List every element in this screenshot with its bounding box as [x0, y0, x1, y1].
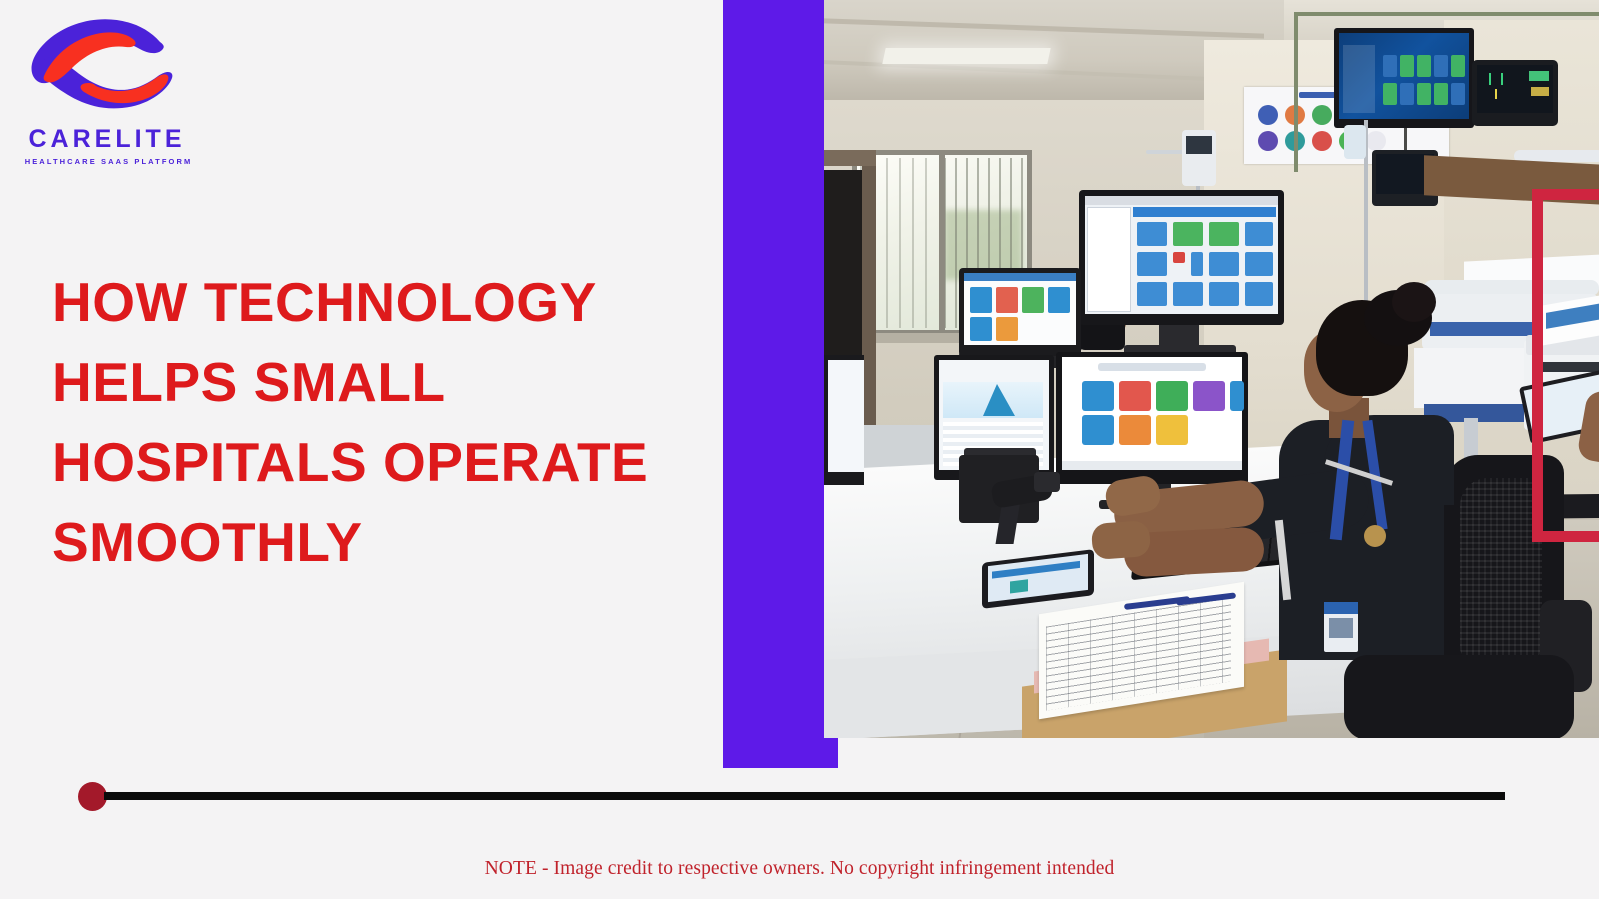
tv-bed-cell	[1451, 83, 1465, 105]
bed-status-card	[1209, 222, 1239, 246]
tv-bed-cell	[1434, 83, 1448, 105]
touchscreen-kiosk	[959, 268, 1081, 356]
tv-bed-cell	[1417, 83, 1431, 105]
seated-nurse-hair-bun	[1392, 282, 1436, 322]
brand-name: CARELITE	[22, 125, 192, 154]
spo2-trace	[1481, 89, 1527, 99]
dashboard-header-bar	[1133, 207, 1276, 217]
vitals-reading	[1531, 87, 1549, 96]
wall-conduit-vertical	[1294, 12, 1298, 172]
bed-status-card	[1137, 282, 1167, 306]
tv-bed-cell	[1400, 55, 1414, 77]
footer-note: NOTE - Image credit to respective owners…	[0, 858, 1599, 880]
bed-status-card	[1173, 222, 1203, 246]
kiosk-header-bar	[964, 273, 1076, 281]
patient-vitals-monitor	[1472, 60, 1558, 126]
vitals-reading	[1529, 71, 1549, 81]
hmis-module-tile	[1193, 381, 1225, 411]
bed-status-card	[1245, 282, 1273, 306]
hospital-workstation-photo	[824, 0, 1599, 738]
barcode-scanner-head	[1034, 472, 1060, 492]
poster-icon	[1258, 131, 1278, 151]
ceiling-light	[882, 48, 1050, 64]
door-header	[824, 150, 876, 166]
ward-dashboard-monitor	[1079, 190, 1284, 325]
id-badge-header	[1324, 602, 1358, 614]
iv-bag	[1344, 125, 1366, 159]
tv-dashboard-sidebar	[1343, 45, 1375, 113]
vitals-screen	[1477, 65, 1553, 113]
tv-bed-cell	[1434, 55, 1448, 77]
hmis-module-tile	[1082, 415, 1114, 445]
hmis-module-tile	[1156, 381, 1188, 411]
headline-line-4: SMOOTHLY	[52, 502, 692, 582]
red-highlight-box	[1532, 189, 1599, 542]
ecg-trace	[1481, 73, 1527, 85]
headline-line-3: HOSPITALS OPERATE	[52, 422, 692, 502]
bed-status-card	[1209, 282, 1239, 306]
carelite-c-logo-icon	[22, 14, 182, 129]
bed-status-card	[1137, 222, 1167, 246]
poster-icon	[1312, 131, 1332, 151]
bed-status-card	[1245, 252, 1273, 276]
hmis-module-tile	[1082, 381, 1114, 411]
tv-bed-cell	[1400, 83, 1414, 105]
windows-taskbar	[1062, 461, 1242, 470]
divider-line	[104, 792, 1505, 800]
seated-nurse-hand-on-keyboard	[1091, 520, 1151, 560]
kiosk-module-tile	[970, 287, 992, 313]
hmis-monitor	[1056, 352, 1248, 484]
dashboard-sidebar	[1087, 207, 1131, 312]
window-mullion	[939, 155, 945, 330]
kiosk-module-tile	[996, 287, 1018, 313]
hmis-module-tile	[1230, 381, 1244, 411]
kiosk-module-tile	[996, 317, 1018, 341]
poster-icon	[1312, 105, 1332, 125]
divider-dot	[78, 782, 107, 811]
headline-line-2: HELPS SMALL	[52, 342, 692, 422]
ward-dashboard-screen	[1085, 196, 1278, 314]
office-chair-mesh	[1460, 478, 1542, 658]
kiosk-screen	[964, 273, 1076, 345]
poster-icon	[1366, 131, 1386, 151]
tv-bed-cell	[1417, 55, 1431, 77]
purple-vertical-bar	[723, 0, 838, 768]
tv-bed-cell	[1451, 55, 1465, 77]
bed-status-card	[1173, 282, 1203, 306]
wall-mounted-tv	[1334, 28, 1474, 128]
id-badge-photo	[1329, 618, 1353, 638]
office-chair-seat	[1344, 655, 1574, 738]
tv-bed-cell	[1383, 83, 1397, 105]
bed-status-card	[1137, 252, 1167, 276]
bed-alert-card	[1173, 252, 1185, 263]
bed-status-card	[1245, 222, 1273, 246]
kiosk-module-tile	[970, 317, 992, 341]
tablet-app-tile	[1010, 579, 1028, 593]
tablet-header-band	[992, 561, 1080, 579]
headline-line-1: HOW TECHNOLOGY	[52, 262, 692, 342]
poster-icon	[1258, 105, 1278, 125]
bed-status-card	[1191, 252, 1203, 276]
browser-titlebar	[1085, 196, 1278, 205]
tv-bed-cell	[1383, 55, 1397, 77]
brand-logo[interactable]: CARELITE HEALTHCARE SAAS PLATFORM	[22, 14, 202, 164]
analytics-peak	[983, 384, 1015, 416]
lanyard-pendant	[1364, 525, 1386, 547]
bed-status-card	[1209, 252, 1239, 276]
tv-dashboard-screen	[1339, 33, 1469, 119]
page-title: HOW TECHNOLOGY HELPS SMALL HOSPITALS OPE…	[52, 262, 692, 582]
monitor-far-left-screen	[828, 360, 864, 472]
hmis-search-bar	[1098, 363, 1206, 371]
kiosk-module-tile	[1048, 287, 1070, 313]
kiosk-module-tile	[1022, 287, 1044, 313]
brand-tagline: HEALTHCARE SAAS PLATFORM	[22, 157, 195, 166]
hmis-screen	[1062, 357, 1242, 470]
wall-conduit	[1294, 12, 1599, 16]
hmis-module-tile	[1156, 415, 1188, 445]
hmis-module-tile	[1119, 415, 1151, 445]
hmis-module-tile	[1119, 381, 1151, 411]
infusion-pump-screen	[1186, 136, 1212, 154]
